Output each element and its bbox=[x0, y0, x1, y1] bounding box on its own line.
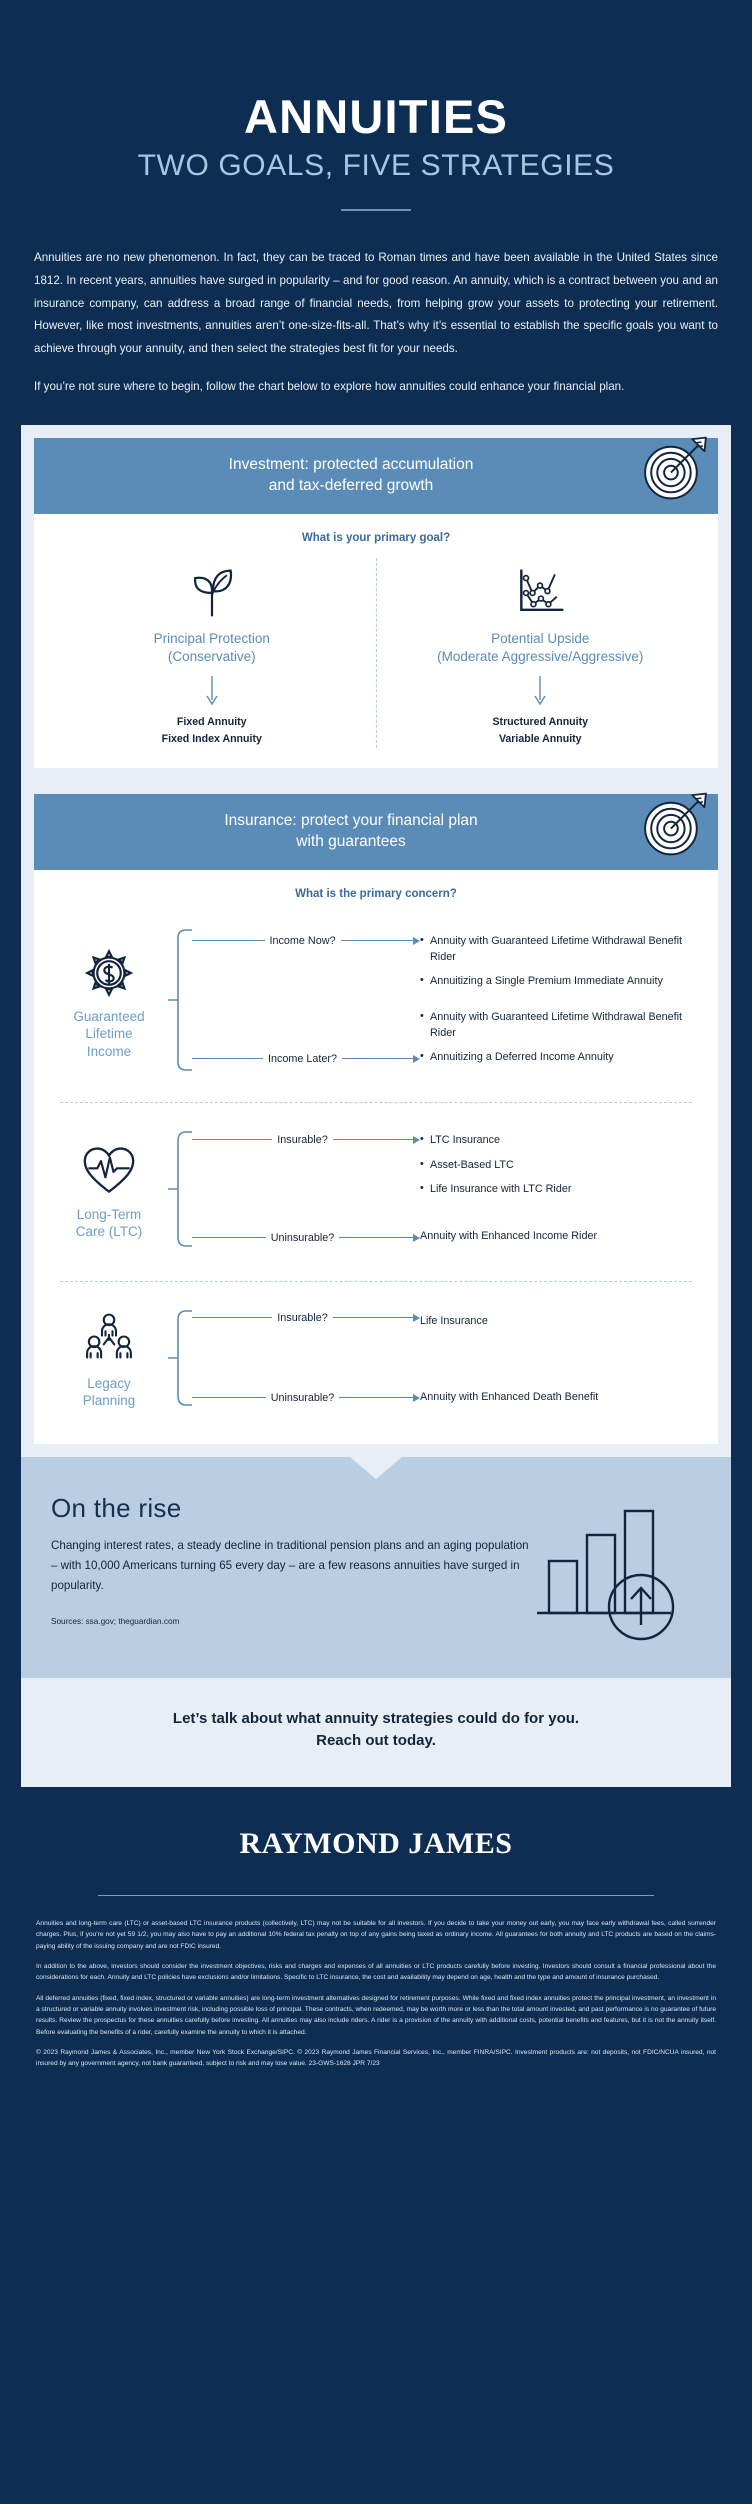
branch-arms: Income Now? Income Later? bbox=[192, 930, 420, 1070]
branch-legacy-planning: Legacy Planning Insurable? bbox=[50, 1292, 702, 1424]
arm-label: Income Later? bbox=[263, 1053, 342, 1065]
insurance-question: What is the primary concern? bbox=[50, 888, 702, 900]
on-the-rise-body: Changing interest rates, a steady declin… bbox=[51, 1536, 531, 1597]
heart-pulse-icon bbox=[50, 1140, 168, 1202]
investment-item: Variable Annuity bbox=[387, 731, 695, 748]
branch-long-term-care: Long-Term Care (LTC) Insurable? bbox=[50, 1113, 702, 1265]
branch-title-line3: Income bbox=[87, 1044, 131, 1059]
on-the-rise-sources: Sources: ssa.gov; theguardian.com bbox=[51, 1617, 531, 1626]
target-bullseye-icon bbox=[636, 430, 712, 506]
branch-title: Legacy Planning bbox=[50, 1375, 168, 1410]
outcome-list: Annuity with Guaranteed Lifetime Withdra… bbox=[420, 934, 702, 1010]
legal-disclaimer: Annuities and long-term care (LTC) or as… bbox=[36, 1918, 716, 2070]
call-to-action: Let’s talk about what annuity strategies… bbox=[21, 1678, 731, 1787]
arrow-head-icon bbox=[413, 1055, 420, 1063]
column-title-line1: Potential Upside bbox=[491, 631, 589, 646]
arrow-head-icon bbox=[413, 1136, 420, 1144]
intro-paragraph-1: Annuities are no new phenomenon. In fact… bbox=[34, 247, 718, 360]
branch-title-line2: Planning bbox=[83, 1393, 136, 1408]
disclaimer-paragraph-2: In addition to the above, investors shou… bbox=[36, 1961, 716, 1984]
family-group-icon bbox=[50, 1309, 168, 1371]
outcome-item: Annuitizing a Deferred Income Annuity bbox=[420, 1050, 702, 1065]
outcome-list: LTC Insurance Asset-Based LTC Life Insur… bbox=[420, 1133, 702, 1205]
plant-leaf-icon bbox=[58, 564, 366, 622]
strategy-chart-card: Investment: protected accumulation and t… bbox=[21, 425, 731, 1457]
branch-separator bbox=[60, 1281, 692, 1282]
target-bullseye-icon bbox=[636, 786, 712, 862]
investment-question: What is your primary goal? bbox=[50, 532, 702, 544]
branch-title-line1: Legacy bbox=[87, 1376, 131, 1391]
cta-line1: Let’s talk about what annuity strategies… bbox=[173, 1710, 579, 1727]
investment-panel-header: Investment: protected accumulation and t… bbox=[34, 438, 718, 514]
outcome-item: Annuity with Guaranteed Lifetime Withdra… bbox=[420, 934, 702, 965]
outcome-list: Annuity with Guaranteed Lifetime Withdra… bbox=[420, 1010, 702, 1065]
insurance-panel-body: What is the primary concern? bbox=[34, 870, 718, 1444]
investment-column-items: Fixed Annuity Fixed Index Annuity bbox=[58, 714, 366, 748]
growth-bar-chart-icon bbox=[531, 1483, 701, 1652]
investment-column-potential-upside: Potential Upside (Moderate Aggressive/Ag… bbox=[379, 558, 703, 748]
outcome-item: Annuity with Guaranteed Lifetime Withdra… bbox=[420, 1010, 702, 1041]
column-title-line2: (Moderate Aggressive/Aggressive) bbox=[437, 649, 643, 664]
branch-arms: Insurable? Uninsurable? bbox=[192, 1307, 420, 1409]
column-title-line2: (Conservative) bbox=[168, 649, 256, 664]
arm-label: Insurable? bbox=[272, 1134, 332, 1146]
branch-guaranteed-lifetime-income: Guaranteed Lifetime Income Income Now? bbox=[50, 914, 702, 1086]
investment-panel-body: What is your primary goal? Principal Pro… bbox=[34, 514, 718, 768]
outcome-item: LTC Insurance bbox=[420, 1133, 702, 1148]
arrow-head-icon bbox=[413, 1394, 420, 1402]
branch-separator bbox=[60, 1102, 692, 1103]
page-subtitle: TWO GOALS, FIVE STRATEGIES bbox=[0, 149, 752, 183]
outcome-item: Asset-Based LTC bbox=[420, 1158, 702, 1173]
branch-title-line2: Lifetime bbox=[85, 1026, 132, 1041]
arm-label: Insurable? bbox=[272, 1312, 332, 1324]
arm-label: Uninsurable? bbox=[266, 1232, 340, 1244]
arm-label: Uninsurable? bbox=[266, 1392, 340, 1404]
on-the-rise-section: On the rise Changing interest rates, a s… bbox=[21, 1457, 731, 1678]
hero-header: ANNUITIES TWO GOALS, FIVE STRATEGIES bbox=[0, 0, 752, 211]
branch-title-line1: Guaranteed bbox=[73, 1009, 144, 1024]
down-arrow-icon bbox=[205, 676, 219, 706]
branch-outcomes: Annuity with Guaranteed Lifetime Withdra… bbox=[420, 934, 702, 1065]
outcome-item: Annuity with Enhanced Death Benefit bbox=[420, 1390, 702, 1405]
disclaimer-paragraph-1: Annuities and long-term care (LTC) or as… bbox=[36, 1918, 716, 1952]
investment-item: Structured Annuity bbox=[387, 714, 695, 731]
investment-column-items: Structured Annuity Variable Annuity bbox=[387, 714, 695, 748]
branch-label-block: Guaranteed Lifetime Income bbox=[50, 940, 168, 1060]
outcome-item: Life Insurance with LTC Rider bbox=[420, 1182, 702, 1197]
branch-arms: Insurable? Uninsurable? bbox=[192, 1129, 420, 1249]
disclaimer-paragraph-4: © 2023 Raymond James & Associates, Inc.,… bbox=[36, 2047, 716, 2070]
volatility-chart-icon bbox=[387, 564, 695, 622]
insurance-panel: Insurance: protect your financial plan w… bbox=[34, 794, 718, 1444]
raymond-james-logo: RAYMOND JAMES bbox=[0, 1827, 752, 1861]
column-title-line1: Principal Protection bbox=[154, 631, 270, 646]
on-the-rise-title: On the rise bbox=[51, 1493, 531, 1524]
gear-dollar-icon bbox=[50, 942, 168, 1004]
disclaimer-paragraph-3: All deferred annuities (fixed, fixed ind… bbox=[36, 1993, 716, 2038]
investment-columns: Principal Protection (Conservative) Fixe… bbox=[50, 558, 702, 748]
investment-column-principal-protection: Principal Protection (Conservative) Fixe… bbox=[50, 558, 374, 748]
outcome-item: Life Insurance bbox=[420, 1310, 702, 1362]
insurance-header-line2: with guarantees bbox=[296, 833, 405, 850]
investment-column-title: Principal Protection (Conservative) bbox=[58, 630, 366, 666]
branch-title: Guaranteed Lifetime Income bbox=[50, 1008, 168, 1060]
investment-column-title: Potential Upside (Moderate Aggressive/Ag… bbox=[387, 630, 695, 666]
cta-line2: Reach out today. bbox=[316, 1732, 436, 1749]
arrow-head-icon bbox=[413, 937, 420, 945]
on-the-rise-text: On the rise Changing interest rates, a s… bbox=[51, 1483, 531, 1626]
page-title: ANNUITIES bbox=[0, 92, 752, 141]
insurance-panel-header: Insurance: protect your financial plan w… bbox=[34, 794, 718, 870]
branch-label-block: Long-Term Care (LTC) bbox=[50, 1138, 168, 1241]
branch-title: Long-Term Care (LTC) bbox=[50, 1206, 168, 1241]
hero-divider bbox=[341, 209, 411, 211]
investment-header-line1: Investment: protected accumulation bbox=[229, 456, 474, 473]
branch-title-line2: Care (LTC) bbox=[76, 1224, 143, 1239]
investment-panel: Investment: protected accumulation and t… bbox=[34, 438, 718, 768]
down-arrow-icon bbox=[533, 676, 547, 706]
branch-outcomes: Life Insurance Annuity with Enhanced Dea… bbox=[420, 1310, 702, 1405]
branch-connector bbox=[168, 1119, 192, 1259]
panel-spacer bbox=[34, 768, 718, 794]
arm-label: Income Now? bbox=[265, 935, 341, 947]
branch-label-block: Legacy Planning bbox=[50, 1307, 168, 1410]
footer-divider bbox=[98, 1895, 654, 1896]
outcome-item: Annuity with Enhanced Income Rider bbox=[420, 1229, 702, 1244]
investment-item: Fixed Index Annuity bbox=[58, 731, 366, 748]
branch-title-line1: Long-Term bbox=[77, 1207, 142, 1222]
intro-text: Annuities are no new phenomenon. In fact… bbox=[34, 247, 718, 399]
column-divider bbox=[376, 558, 377, 748]
insurance-header-line1: Insurance: protect your financial plan bbox=[224, 812, 477, 829]
arrow-head-icon bbox=[413, 1314, 420, 1322]
branch-connector bbox=[168, 1298, 192, 1418]
intro-paragraph-2: If you’re not sure where to begin, follo… bbox=[34, 376, 718, 399]
branch-outcomes: LTC Insurance Asset-Based LTC Life Insur… bbox=[420, 1133, 702, 1244]
brand-footer: RAYMOND JAMES bbox=[0, 1787, 752, 1896]
branch-connector bbox=[168, 920, 192, 1080]
arrow-head-icon bbox=[413, 1234, 420, 1242]
outcome-item: Annuitizing a Single Premium Immediate A… bbox=[420, 974, 702, 989]
investment-header-line2: and tax-deferred growth bbox=[269, 477, 434, 494]
investment-item: Fixed Annuity bbox=[58, 714, 366, 731]
